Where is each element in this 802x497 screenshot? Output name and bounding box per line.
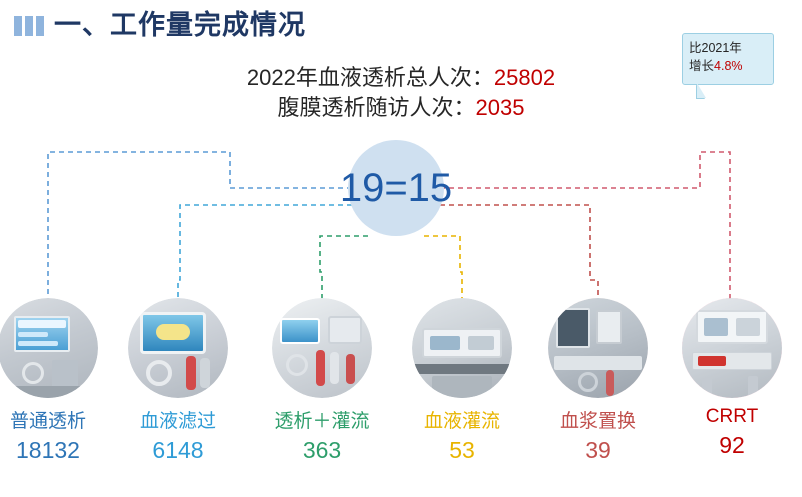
- hub-label: 19=15: [340, 166, 452, 211]
- list-item: CRRT 92: [662, 298, 802, 459]
- list-item: 血液灌流 53: [392, 298, 532, 464]
- list-item: 普通透析 18132: [0, 298, 118, 464]
- machine-photo-3: [272, 298, 372, 398]
- machine-photo-5: [548, 298, 648, 398]
- list-item-label: 血液灌流: [392, 406, 532, 433]
- list-item-value: 53: [392, 437, 532, 464]
- list-item-value: 39: [528, 437, 668, 464]
- list-item-value: 363: [252, 437, 392, 464]
- list-item: 血浆置换 39: [528, 298, 668, 464]
- hub-circle: 19=15: [348, 140, 444, 236]
- machine-photo-4: [412, 298, 512, 398]
- machine-photo-2: [128, 298, 228, 398]
- list-item-label: 血液滤过: [108, 406, 248, 433]
- machine-photo-6: [682, 298, 782, 398]
- list-item-label: 普通透析: [0, 406, 118, 433]
- list-item-label: 血浆置换: [528, 406, 668, 433]
- list-item-label: 透析＋灌流: [252, 406, 392, 433]
- list-item: 透析＋灌流 363: [252, 298, 392, 464]
- list-item-value: 92: [662, 432, 802, 459]
- list-item: 血液滤过 6148: [108, 298, 248, 464]
- list-item-label: CRRT: [662, 406, 802, 428]
- list-item-value: 18132: [0, 437, 118, 464]
- machine-photo-1: [0, 298, 98, 398]
- list-item-value: 6148: [108, 437, 248, 464]
